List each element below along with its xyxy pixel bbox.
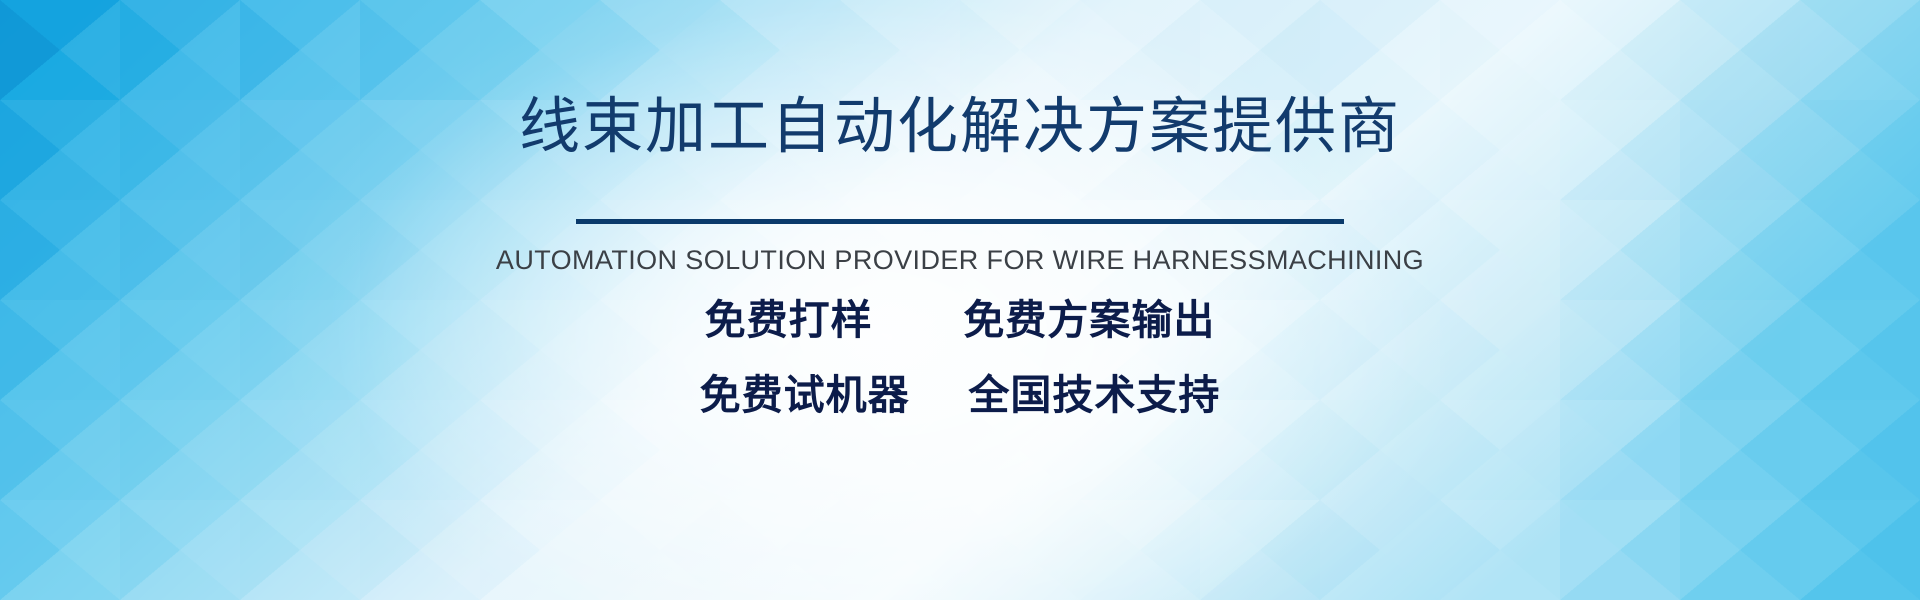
banner-content: 线束加工自动化解决方案提供商 AUTOMATION SOLUTION PROVI…: [0, 0, 1920, 600]
banner-headline: 线束加工自动化解决方案提供商: [0, 96, 1920, 157]
selling-point-free-solution: 免费方案输出: [963, 297, 1215, 343]
selling-points-row: 免费打样 免费方案输出: [0, 300, 1920, 341]
selling-point-free-sample: 免费打样: [705, 297, 873, 343]
selling-points: 免费打样 免费方案输出 免费试机器 全国技术支持: [0, 300, 1920, 416]
banner-subheadline: AUTOMATION SOLUTION PROVIDER FOR WIRE HA…: [0, 245, 1920, 276]
headline-divider: [576, 219, 1344, 224]
selling-point-free-trial: 免费试机器: [700, 372, 910, 418]
hero-banner: 线束加工自动化解决方案提供商 AUTOMATION SOLUTION PROVI…: [0, 0, 1920, 600]
selling-points-row: 免费试机器 全国技术支持: [0, 375, 1920, 416]
selling-point-nationwide-support: 全国技术支持: [968, 372, 1220, 418]
